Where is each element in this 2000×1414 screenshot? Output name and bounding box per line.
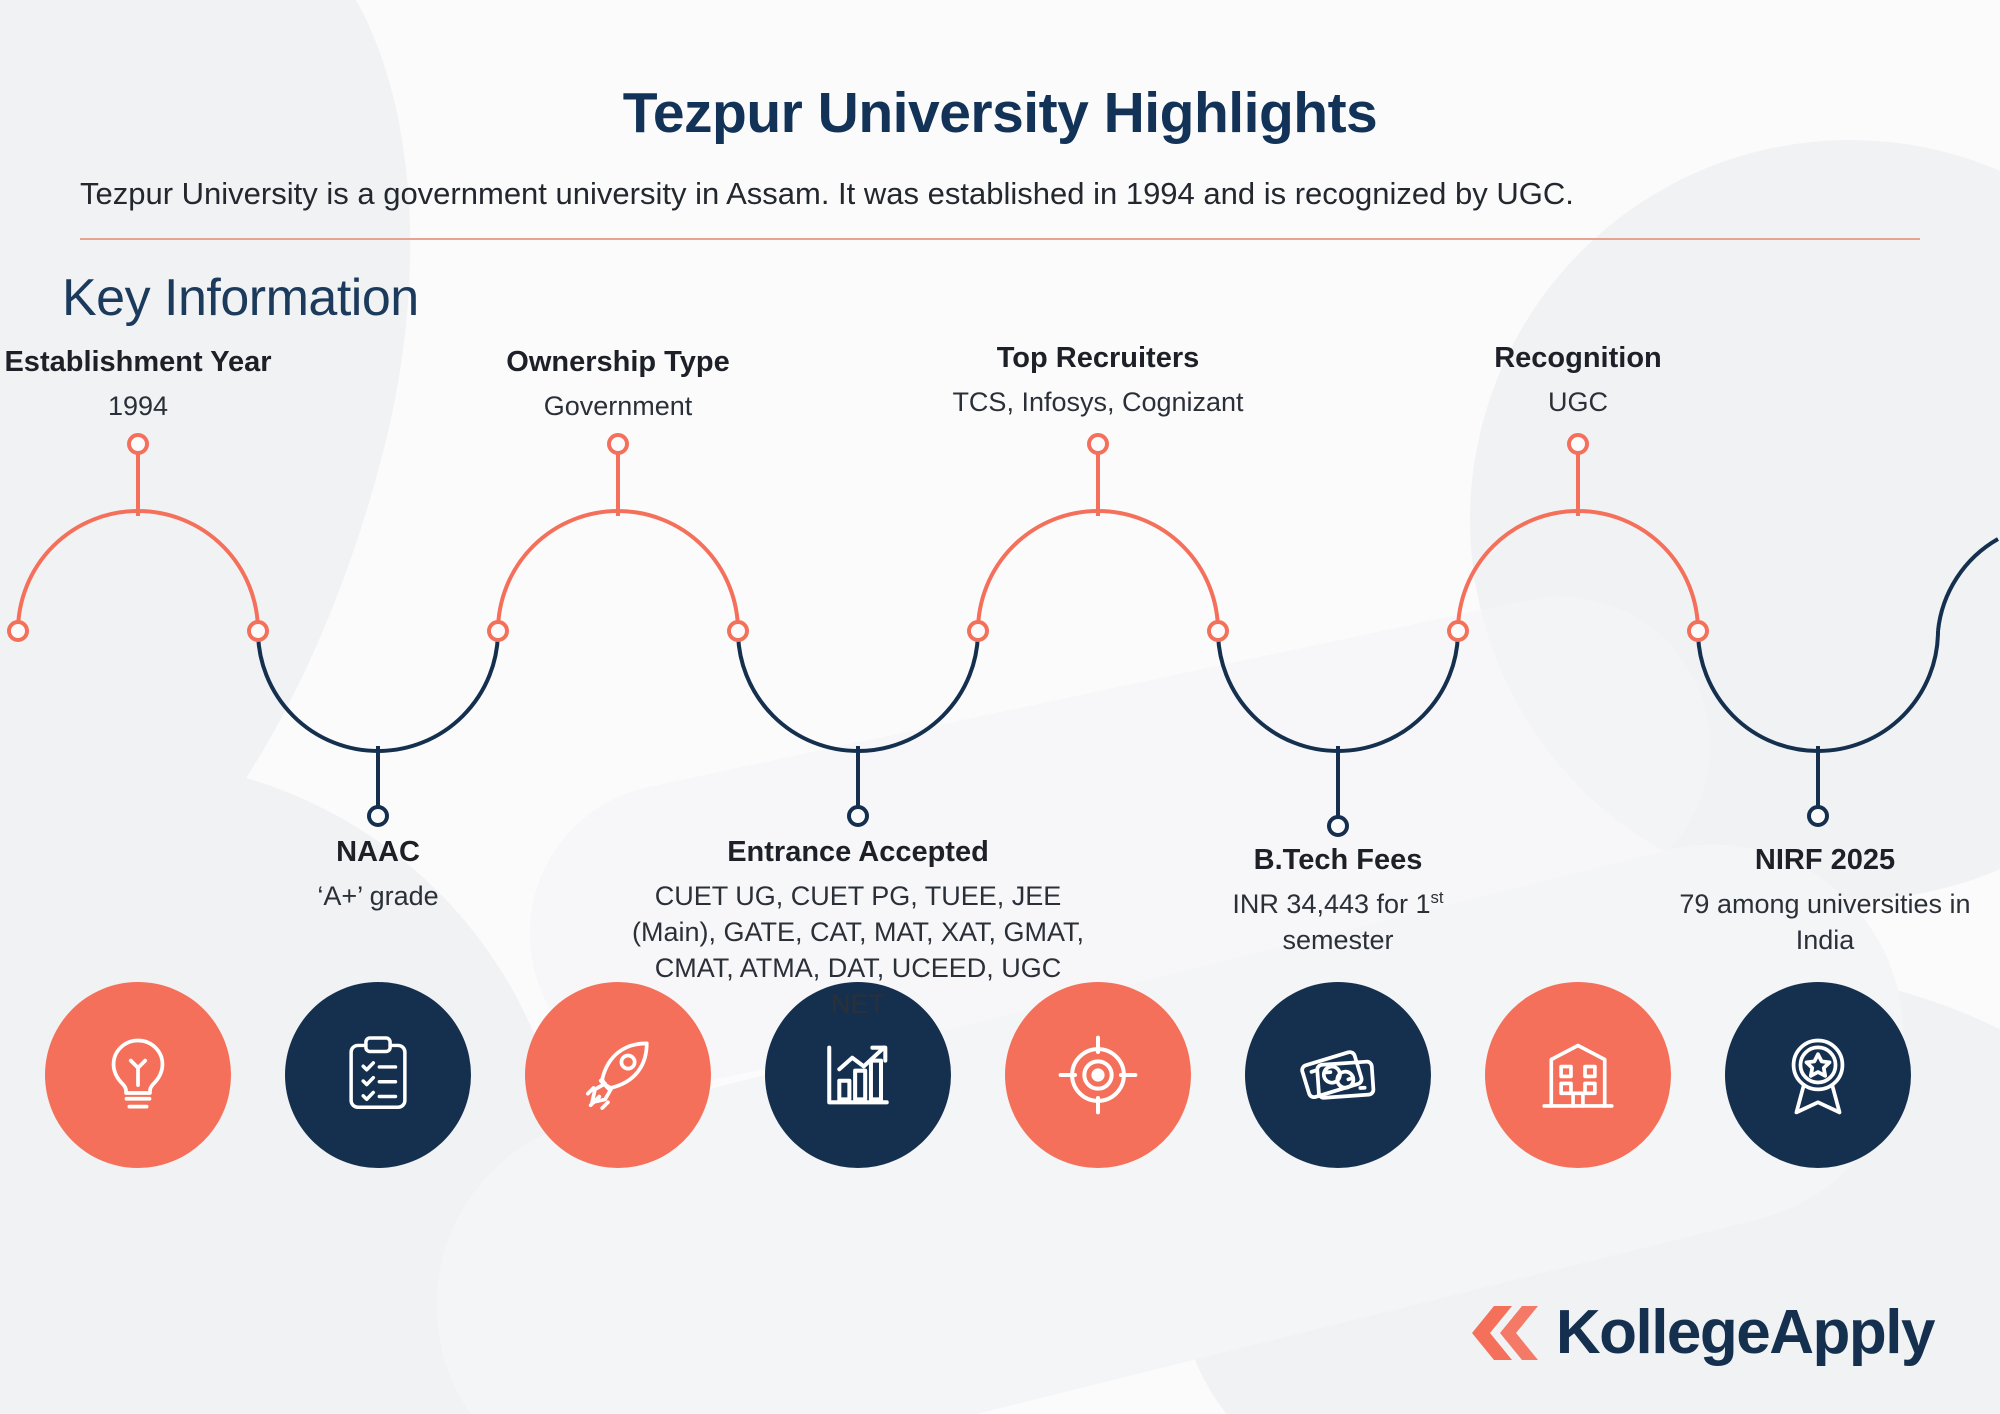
caption-recognition: Recognition UGC [1438, 340, 1718, 421]
caption-entrance-accepted: Entrance Accepted CUET UG, CUET PG, TUEE… [628, 834, 1088, 1023]
caption-value: UGC [1438, 385, 1718, 421]
bar-chart-growth-icon [812, 1029, 904, 1121]
fees-amount: INR 34,443 for 1 [1232, 889, 1430, 919]
fees-ordinal-suffix: st [1431, 888, 1444, 907]
caption-top-recruiters: Top Recruiters TCS, Infosys, Cognizant [918, 340, 1278, 421]
caption-value: Government [478, 389, 758, 425]
caption-value: 79 among universities in India [1660, 887, 1990, 959]
caption-title: Entrance Accepted [628, 834, 1088, 870]
page-subtitle: Tezpur University is a government univer… [80, 172, 1780, 216]
target-icon [1052, 1029, 1144, 1121]
caption-title: Top Recruiters [918, 340, 1278, 376]
banknotes-icon [1292, 1029, 1384, 1121]
caption-title: NAAC [238, 834, 518, 870]
award-badge-icon [1772, 1029, 1864, 1121]
caption-value: CUET UG, CUET PG, TUEE, JEE (Main), GATE… [628, 879, 1088, 1023]
caption-naac: NAAC ‘A+’ grade [238, 834, 518, 915]
caption-title: B.Tech Fees [1188, 842, 1488, 878]
clipboard-checklist-icon [335, 1032, 421, 1118]
brand-logo: KollegeApply [1464, 1297, 1934, 1368]
caption-value: TCS, Infosys, Cognizant [918, 385, 1278, 421]
timeline: Establishment Year 1994 NAAC ‘A+’ gr [0, 334, 2000, 1174]
timeline-circle-establishment-year[interactable] [45, 982, 231, 1168]
timeline-circle-btech-fees[interactable] [1245, 982, 1431, 1168]
caption-ownership-type: Ownership Type Government [478, 344, 758, 425]
building-icon [1533, 1030, 1623, 1120]
brand-name: KollegeApply [1556, 1297, 1934, 1368]
caption-btech-fees: B.Tech Fees INR 34,443 for 1st semester [1188, 842, 1488, 959]
page-title: Tezpur University Highlights [0, 0, 2000, 144]
caption-value: 1994 [0, 389, 276, 425]
caption-value: INR 34,443 for 1st semester [1188, 887, 1488, 959]
header-divider [80, 238, 1920, 240]
section-heading: Key Information [62, 268, 2000, 328]
caption-value: ‘A+’ grade [238, 879, 518, 915]
caption-title: Recognition [1438, 340, 1718, 376]
caption-nirf-2025: NIRF 2025 79 among universities in India [1660, 842, 1990, 959]
timeline-circle-recognition[interactable] [1485, 982, 1671, 1168]
caption-establishment-year: Establishment Year 1994 [0, 344, 276, 425]
caption-title: Establishment Year [0, 344, 276, 380]
timeline-circle-nirf-2025[interactable] [1725, 982, 1911, 1168]
timeline-circle-naac[interactable] [285, 982, 471, 1168]
lightbulb-icon [92, 1029, 184, 1121]
fees-period: semester [1282, 925, 1393, 955]
timeline-circle-top-recruiters[interactable] [1005, 982, 1191, 1168]
kollegeapply-mark-icon [1464, 1300, 1540, 1366]
rocket-icon [572, 1029, 664, 1121]
caption-title: Ownership Type [478, 344, 758, 380]
caption-title: NIRF 2025 [1660, 842, 1990, 878]
